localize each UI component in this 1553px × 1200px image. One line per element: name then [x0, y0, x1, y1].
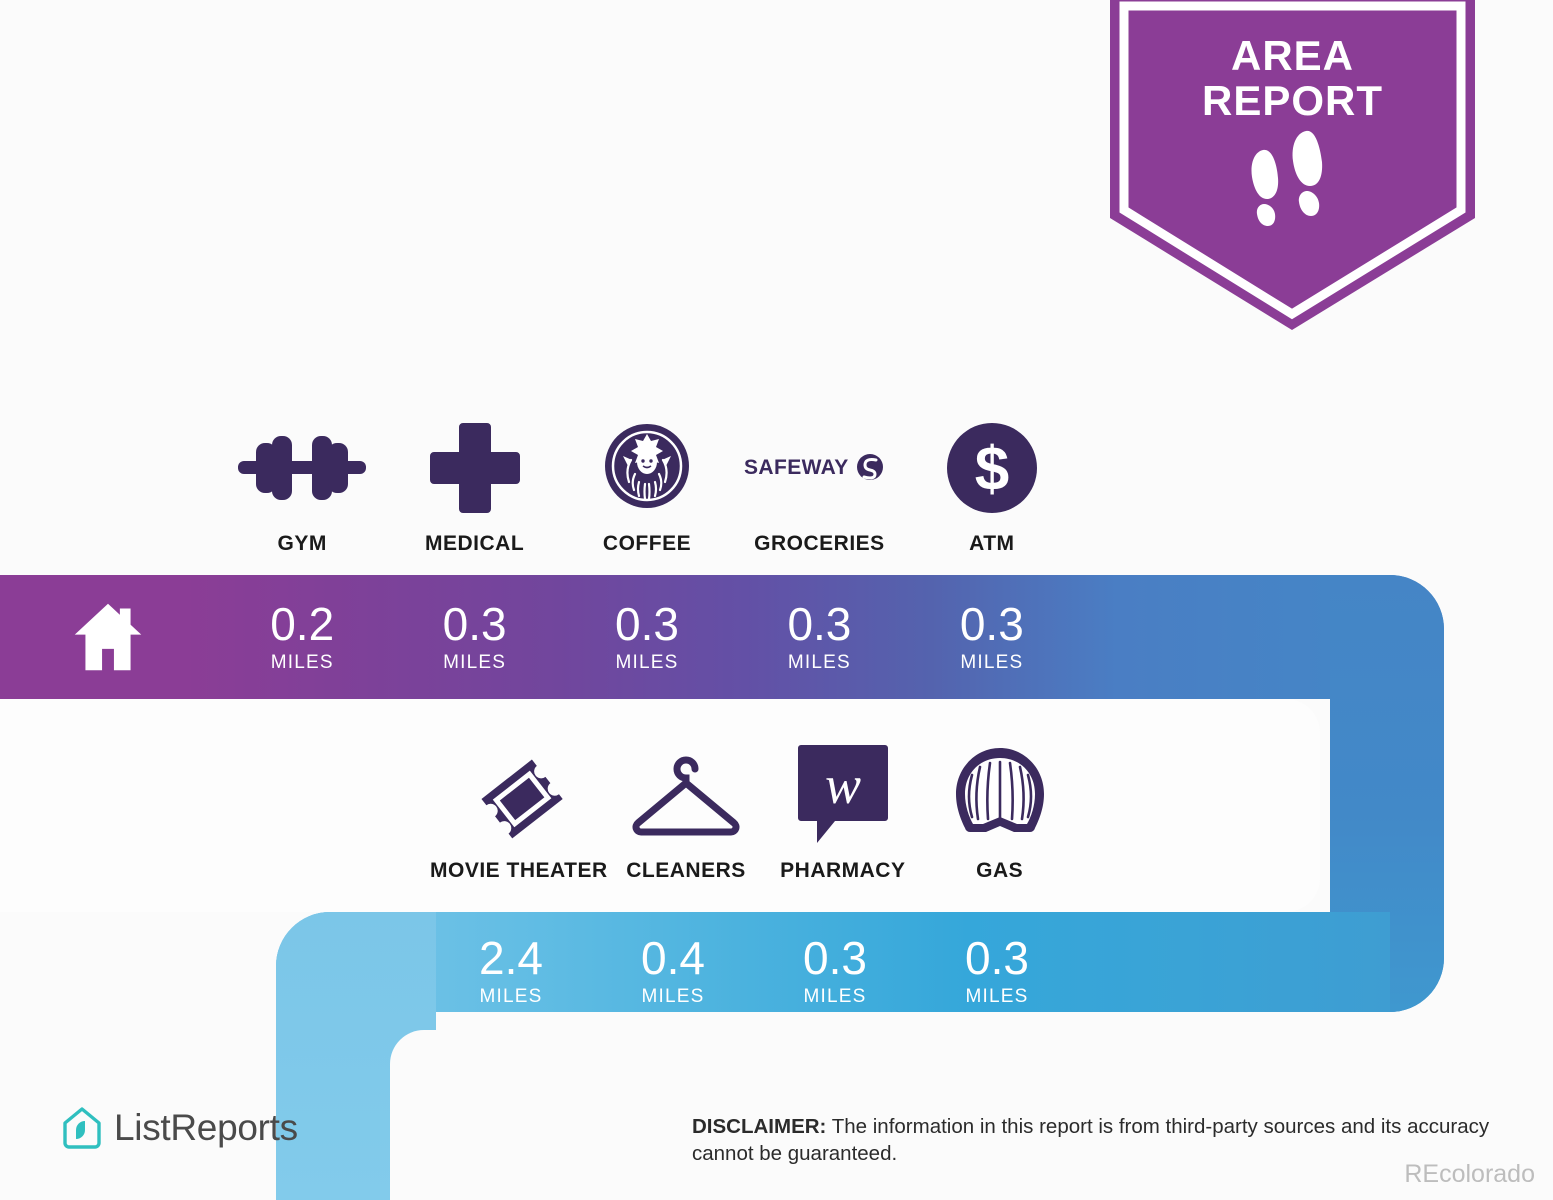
dumbbell-icon: [238, 418, 366, 518]
amenity-label: GYM: [278, 532, 327, 556]
disclaimer: DISCLAIMER: The information in this repo…: [692, 1113, 1512, 1167]
amenity-atm: $ ATM: [906, 418, 1078, 556]
amenity-pharmacy: w PHARMACY: [764, 745, 921, 883]
distance-unit: MILES: [960, 652, 1023, 674]
amenity-groceries: SAFEWAY GROCERIES: [733, 418, 905, 556]
distance-value: 0.3: [787, 601, 851, 647]
amenity-medical: MEDICAL: [388, 418, 560, 556]
distance-value: 0.4: [641, 935, 705, 981]
distance-value: 0.3: [803, 935, 867, 981]
distance-cell-gym: 0.2 MILES: [216, 575, 388, 699]
distance-cell-medical: 0.3 MILES: [388, 575, 560, 699]
amenity-label: CLEANERS: [626, 859, 746, 883]
distance-value: 0.3: [615, 601, 679, 647]
distance-unit: MILES: [965, 986, 1028, 1008]
area-report-badge: AREA REPORT: [1110, 0, 1475, 330]
svg-text:w: w: [825, 755, 861, 815]
distance-value: 0.3: [965, 935, 1029, 981]
distance-unit: MILES: [443, 652, 506, 674]
svg-text:SAFEWAY: SAFEWAY: [744, 456, 849, 479]
amenity-label: MEDICAL: [425, 532, 524, 556]
distance-cell-atm: 0.3 MILES: [906, 575, 1078, 699]
listreports-house-icon: [62, 1106, 102, 1150]
listreports-name: ListReports: [114, 1107, 298, 1149]
home-origin-cell: [0, 575, 216, 699]
watermark: REcolorado: [1404, 1160, 1535, 1189]
disclaimer-label: DISCLAIMER:: [692, 1115, 826, 1138]
distance-value-row-1: 0.2 MILES 0.3 MILES 0.3 MILES 0.3 MILES …: [216, 575, 1078, 699]
distance-unit: MILES: [803, 986, 866, 1008]
safeway-logo-icon: SAFEWAY: [744, 418, 894, 518]
distance-cell-movie-theater: 2.4 MILES: [430, 912, 592, 1030]
distance-value-row-2: 2.4 MILES 0.4 MILES 0.3 MILES 0.3 MILES: [430, 912, 1078, 1030]
distance-unit: MILES: [271, 652, 334, 674]
distance-cell-groceries: 0.3 MILES: [733, 575, 905, 699]
amenity-gym: GYM: [216, 418, 388, 556]
amenity-label: MOVIE THEATER: [430, 859, 608, 883]
shell-logo-icon: [950, 745, 1050, 845]
distance-unit: MILES: [788, 652, 851, 674]
clothes-hanger-icon: [626, 745, 746, 845]
amenity-label: COFFEE: [603, 532, 691, 556]
amenity-label: PHARMACY: [780, 859, 905, 883]
svg-text:$: $: [975, 435, 1009, 504]
home-icon: [70, 599, 146, 675]
dollar-circle-icon: $: [945, 418, 1039, 518]
distance-cell-pharmacy: 0.3 MILES: [754, 912, 916, 1030]
movie-ticket-icon: [469, 745, 569, 845]
distance-unit: MILES: [479, 986, 542, 1008]
distance-value: 0.3: [960, 601, 1024, 647]
distance-value: 2.4: [479, 935, 543, 981]
amenity-label: ATM: [969, 532, 1014, 556]
distance-unit: MILES: [641, 986, 704, 1008]
amenity-label: GAS: [976, 859, 1023, 883]
amenity-movie-theater: MOVIE THEATER: [430, 745, 608, 883]
distance-cell-gas: 0.3 MILES: [916, 912, 1078, 1030]
distance-value: 0.2: [270, 601, 334, 647]
amenity-cleaners: CLEANERS: [608, 745, 765, 883]
amenity-icon-row-2: MOVIE THEATER CLEANERS w PHARMACY: [430, 745, 1078, 883]
amenity-label: GROCERIES: [754, 532, 885, 556]
amenity-gas: GAS: [921, 745, 1078, 883]
amenity-icon-row-1: GYM MEDICAL COFFEE: [216, 418, 1078, 556]
starbucks-logo-icon: [601, 418, 693, 518]
medical-cross-icon: [430, 418, 520, 518]
distance-cell-coffee: 0.3 MILES: [561, 575, 733, 699]
distance-cell-cleaners: 0.4 MILES: [592, 912, 754, 1030]
distance-value: 0.3: [443, 601, 507, 647]
walgreens-logo-icon: w: [795, 745, 891, 845]
distance-unit: MILES: [616, 652, 679, 674]
listreports-logo: ListReports: [62, 1106, 298, 1150]
amenity-coffee: COFFEE: [561, 418, 733, 556]
